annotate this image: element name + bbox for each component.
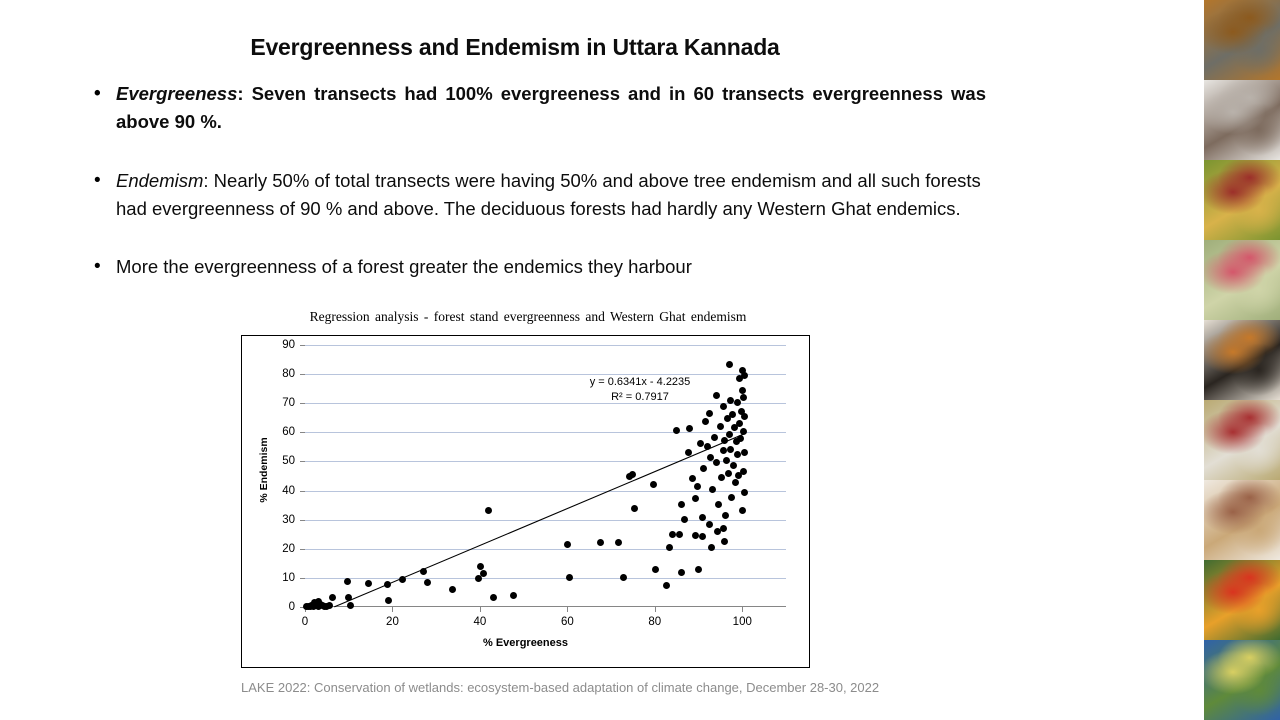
scatter-point [741, 413, 748, 420]
photo-thumbnail-orchid-maroon-yellow [1204, 160, 1280, 240]
photo-thumbnail-white-flowers [1204, 80, 1280, 160]
scatter-point [564, 541, 571, 548]
regression-equation: y = 0.6341x - 4.2235 [570, 375, 710, 390]
photo-thumbnail-pods-dry-curled [1204, 480, 1280, 560]
scatter-point [726, 431, 733, 438]
regression-scatter-chart: 0102030405060708090 020406080100 [241, 335, 810, 668]
y-tick-label: 50 [282, 455, 295, 467]
bullet-text: Endemism: Nearly 50% of total transects … [116, 167, 986, 223]
photo-image [1204, 160, 1280, 240]
scatter-point [697, 440, 704, 447]
scatter-point [741, 449, 748, 456]
bullet-lead-term: Endemism [116, 170, 203, 191]
scatter-point [711, 434, 718, 441]
scatter-point [740, 428, 747, 435]
scatter-point [424, 579, 431, 586]
x-tick [742, 607, 743, 612]
chart-regression-annotation: y = 0.6341x - 4.2235 R² = 0.7917 [570, 375, 710, 405]
chart-trendline [305, 345, 786, 607]
scatter-point [708, 544, 715, 551]
x-tick-label: 40 [474, 616, 487, 628]
scatter-point [695, 566, 702, 573]
scatter-point [726, 361, 733, 368]
photo-thumbnail-yellow-star-flower [1204, 640, 1280, 720]
bullet-text: More the evergreenness of a forest great… [116, 253, 986, 281]
x-tick-label: 0 [302, 616, 308, 628]
scatter-point [620, 574, 627, 581]
scatter-point [399, 576, 406, 583]
scatter-point [326, 602, 333, 609]
chart-plot-area: 0102030405060708090 020406080100 [305, 345, 786, 607]
bullet-separator: : [237, 83, 251, 104]
scatter-point [678, 569, 685, 576]
bullet-lead-term: Evergreeness [116, 83, 237, 104]
chart-x-axis-title: % Evergreeness [241, 637, 810, 649]
scatter-point [692, 495, 699, 502]
y-tick-label: 20 [282, 543, 295, 555]
photo-image [1204, 640, 1280, 720]
scatter-point [741, 489, 748, 496]
regression-r-squared: R² = 0.7917 [570, 390, 710, 405]
scatter-point [730, 462, 737, 469]
chart-title: Regression analysis - forest stand everg… [258, 309, 798, 325]
y-tick-label: 30 [282, 514, 295, 526]
x-tick-label: 80 [648, 616, 661, 628]
scatter-point [725, 470, 732, 477]
scatter-point [566, 574, 573, 581]
scatter-point [365, 580, 372, 587]
y-tick-label: 10 [282, 572, 295, 584]
x-tick-label: 100 [733, 616, 752, 628]
scatter-point [718, 474, 725, 481]
x-tick-label: 60 [561, 616, 574, 628]
scatter-point [510, 592, 517, 599]
photo-image [1204, 0, 1280, 80]
photo-thumbnail-fruits-red-olive [1204, 400, 1280, 480]
scatter-point [737, 435, 744, 442]
bullet-item-evergreeness: • Evergreeness: Seven transects had 100%… [88, 80, 986, 136]
x-tick [392, 607, 393, 612]
scatter-point [650, 481, 657, 488]
photo-thumbnail-fruits-pink-green [1204, 240, 1280, 320]
scatter-point [685, 449, 692, 456]
scatter-point [699, 514, 706, 521]
scatter-point [720, 447, 727, 454]
x-tick-label: 20 [386, 616, 399, 628]
bullet-body: Nearly 50% of total transects were havin… [116, 170, 981, 219]
photo-strip [1204, 0, 1280, 720]
page-title: Evergreenness and Endemism in Uttara Kan… [0, 34, 1030, 61]
bullet-marker-icon: • [88, 80, 116, 108]
bullet-body: More the evergreenness of a forest great… [116, 256, 692, 277]
scatter-point [727, 397, 734, 404]
bullet-marker-icon: • [88, 167, 116, 195]
bullet-text: Evergreeness: Seven transects had 100% e… [116, 80, 986, 136]
x-tick [480, 607, 481, 612]
y-tick-label: 60 [282, 426, 295, 438]
photo-thumbnail-red-flower-cluster [1204, 560, 1280, 640]
scatter-point [676, 531, 683, 538]
bullet-marker-icon: • [88, 253, 116, 281]
photo-image [1204, 480, 1280, 560]
photo-thumbnail-seeds-orange-black [1204, 320, 1280, 400]
scatter-point [734, 399, 741, 406]
slide-canvas: Evergreenness and Endemism in Uttara Kan… [0, 0, 1204, 720]
photo-thumbnail-pods-brown [1204, 0, 1280, 80]
photo-image [1204, 240, 1280, 320]
bullet-item-endemism: • Endemism: Nearly 50% of total transect… [88, 167, 986, 223]
scatter-point [739, 507, 746, 514]
scatter-point [315, 598, 322, 605]
footer-citation: LAKE 2022: Conservation of wetlands: eco… [241, 680, 1001, 695]
scatter-point [485, 507, 492, 514]
scatter-point [663, 582, 670, 589]
scatter-point [706, 410, 713, 417]
y-tick-label: 90 [282, 339, 295, 351]
scatter-point [347, 602, 354, 609]
photo-image [1204, 400, 1280, 480]
bullet-separator: : [203, 170, 213, 191]
photo-image [1204, 80, 1280, 160]
scatter-point [449, 586, 456, 593]
scatter-point [681, 516, 688, 523]
scatter-point [717, 423, 724, 430]
chart-y-axis-title: % Endemism [258, 437, 270, 502]
scatter-point [597, 539, 604, 546]
y-tick-label: 80 [282, 368, 295, 380]
photo-image [1204, 320, 1280, 400]
scatter-point [713, 392, 720, 399]
photo-image [1204, 560, 1280, 640]
scatter-point [739, 387, 746, 394]
bullet-item-summary: • More the evergreenness of a forest gre… [88, 253, 986, 281]
x-tick [655, 607, 656, 612]
x-tick [567, 607, 568, 612]
y-tick-label: 40 [282, 485, 295, 497]
scatter-point [631, 505, 638, 512]
y-tick-label: 0 [289, 601, 295, 613]
scatter-point [721, 538, 728, 545]
y-tick-label: 70 [282, 397, 295, 409]
